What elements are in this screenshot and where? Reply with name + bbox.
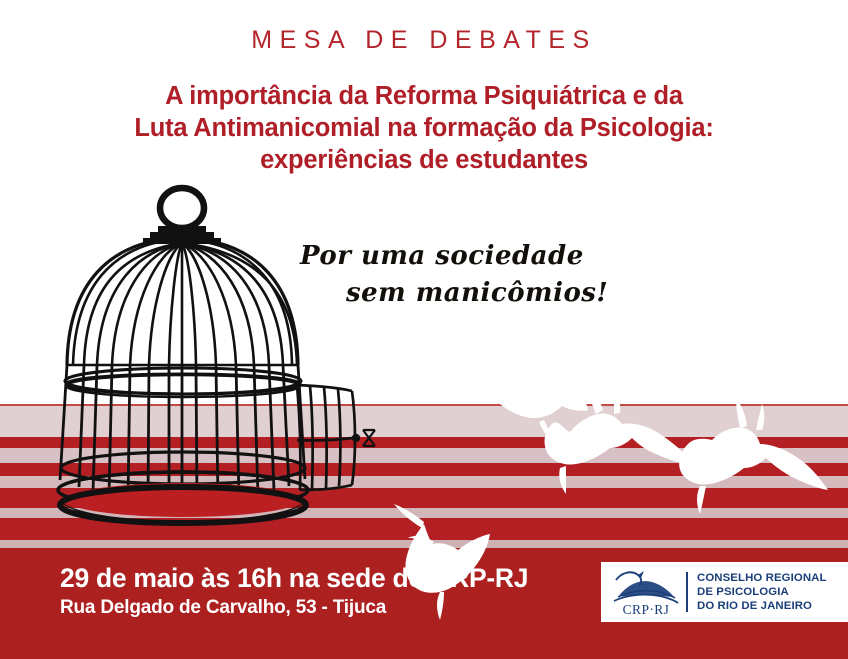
- logo-acronym-text: CRP·RJ: [623, 602, 670, 617]
- poster-canvas: MESA DE DEBATES A importância da Reforma…: [0, 0, 848, 659]
- crp-rj-logo-mark: CRP·RJ: [608, 566, 684, 618]
- event-datetime-venue: 29 de maio às 16h na sede do CRP-RJ: [60, 563, 528, 594]
- kicker-mesa-de-debates: MESA DE DEBATES: [0, 27, 848, 55]
- logo-name-line-1: CONSELHO REGIONAL: [697, 571, 827, 585]
- slogan-line-2: sem manicômios!: [300, 275, 630, 312]
- logo-name-line-3: DO RIO DE JANEIRO: [697, 599, 827, 613]
- slogan-line-1: Por uma sociedade: [300, 238, 630, 275]
- dove-left-icon: [476, 298, 588, 444]
- slogan-script: Por uma sociedade sem manicômios!: [300, 238, 630, 312]
- event-address: Rua Delgado de Carvalho, 53 - Tijuca: [60, 597, 386, 619]
- page-title: A importância da Reforma Psiquiátrica e …: [0, 80, 848, 176]
- dove-far-left-low-icon: [394, 504, 490, 620]
- logo-name-line-2: DE PSICOLOGIA: [697, 585, 827, 599]
- title-line-1: A importância da Reforma Psiquiátrica e …: [0, 80, 848, 112]
- title-line-2: Luta Antimanicomial na formação da Psico…: [0, 112, 848, 144]
- logo-institution-name: CONSELHO REGIONAL DE PSICOLOGIA DO RIO D…: [697, 571, 827, 614]
- dove-right-low-icon: [679, 398, 828, 514]
- logo-divider: [686, 572, 688, 612]
- logo-bird-book-glyph: [614, 571, 678, 603]
- title-line-3: experiências de estudantes: [0, 144, 848, 176]
- crp-rj-logo: CRP·RJ CONSELHO REGIONAL DE PSICOLOGIA D…: [601, 562, 848, 622]
